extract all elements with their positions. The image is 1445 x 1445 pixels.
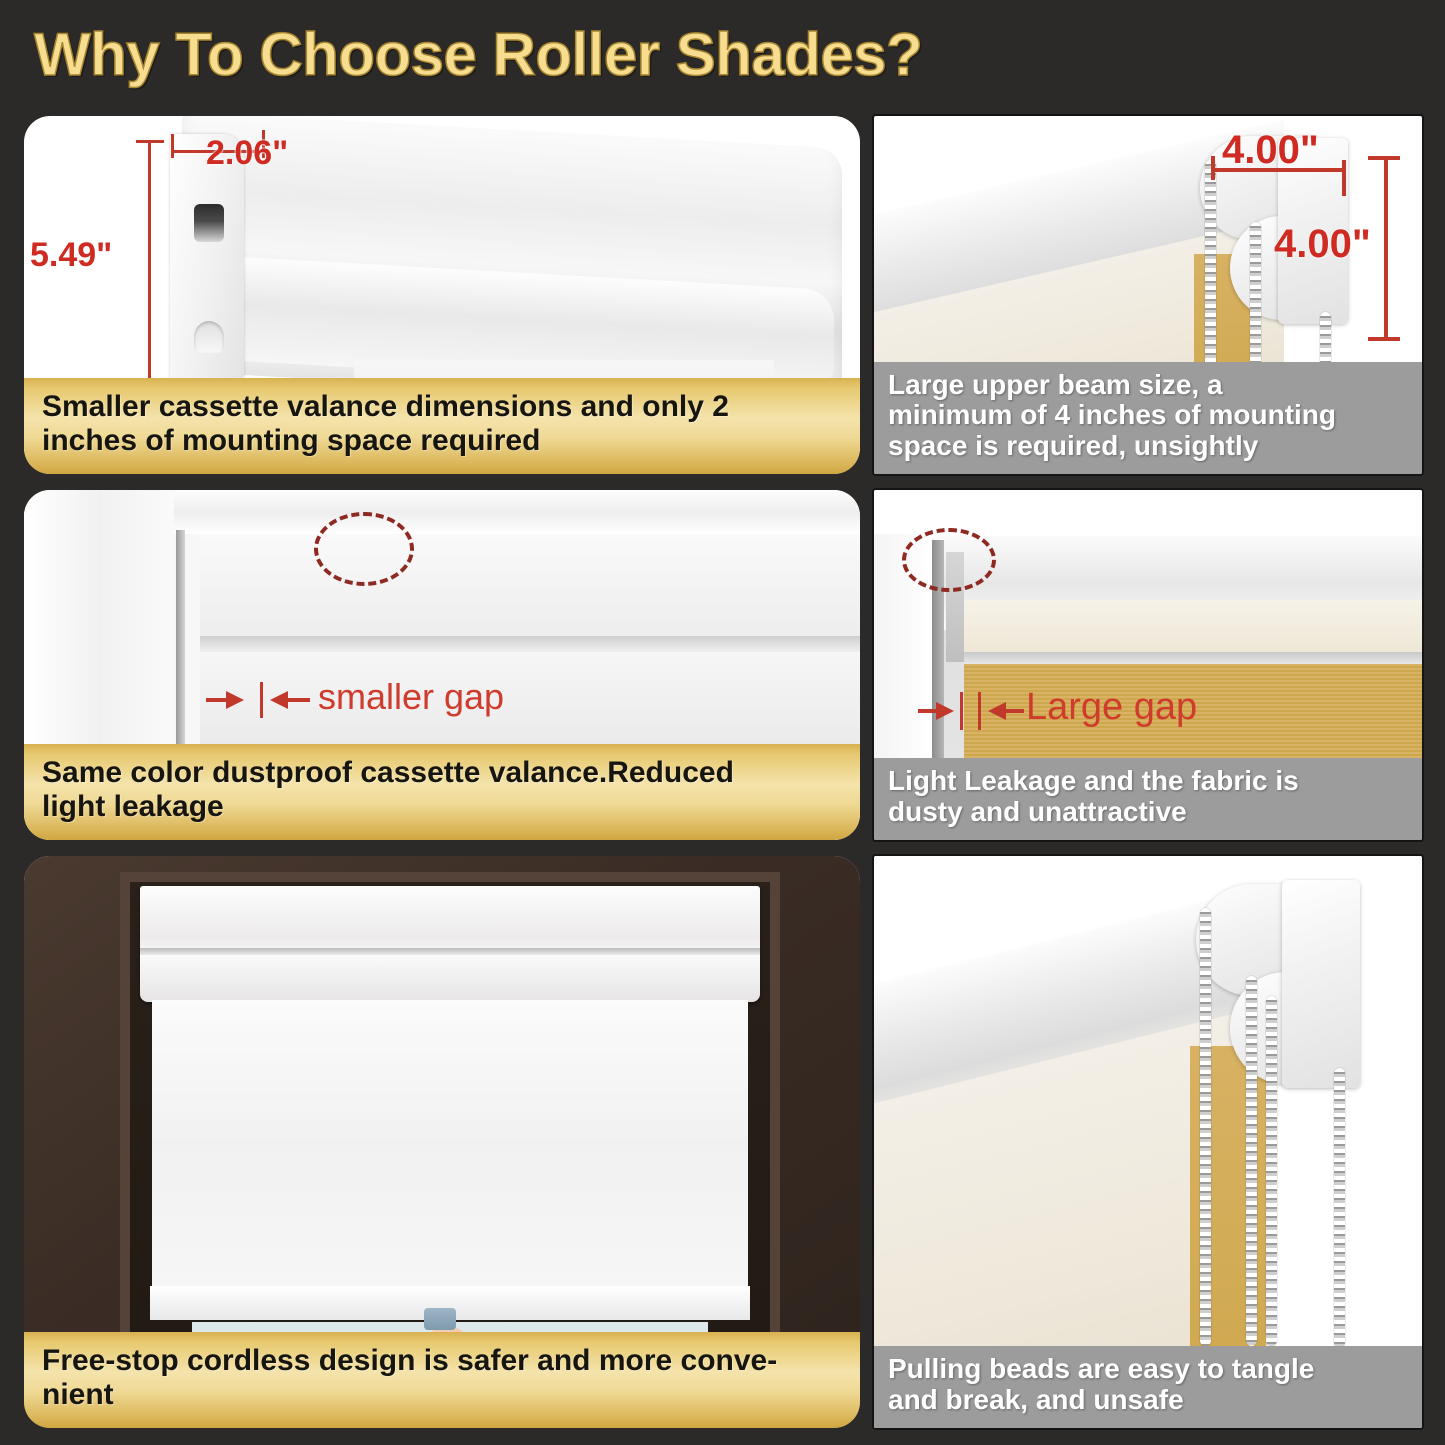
side-channel bbox=[176, 530, 185, 762]
caption-line: Same color dustproof cassette valance.Re… bbox=[42, 756, 842, 790]
bead-chain-front bbox=[1200, 908, 1211, 1346]
smaller-gap-label: smaller gap bbox=[318, 676, 504, 718]
panel-pulling-beads: Pulling beads are easy to tangle and bre… bbox=[874, 856, 1422, 1428]
height-dim-tick-bottom bbox=[1368, 337, 1400, 341]
fabric-top-edge bbox=[964, 600, 1422, 656]
bead-chain-front bbox=[1205, 160, 1216, 380]
bead-chain-roller-image bbox=[874, 856, 1422, 1428]
panel-5-caption: Free-stop cordless design is safer and m… bbox=[24, 1332, 860, 1428]
panel-dustproof-valance: smaller gap Same color dustproof cassett… bbox=[24, 490, 860, 840]
caption-line: minimum of 4 inches of mounting bbox=[888, 400, 1410, 431]
beam-height-label: 4.00" bbox=[1274, 222, 1371, 267]
mounting-plate bbox=[1282, 880, 1360, 1088]
height-dimension-label: 5.49" bbox=[30, 236, 112, 275]
caption-line: dusty and unattractive bbox=[888, 797, 1410, 828]
caption-line: Light Leakage and the fabric is bbox=[888, 766, 1410, 797]
caption-line: Large upper beam size, a bbox=[888, 370, 1410, 401]
page-title: Why To Choose Roller Shades? bbox=[34, 20, 922, 89]
gap-marker-line bbox=[260, 682, 263, 718]
shade-fabric bbox=[152, 1000, 748, 1290]
panel-2-caption: Large upper beam size, a minimum of 4 in… bbox=[874, 362, 1422, 474]
width-dimension-label: 2.06" bbox=[206, 134, 288, 173]
window-frame-top bbox=[174, 490, 860, 534]
caption-line: Free-stop cordless design is safer and m… bbox=[42, 1344, 842, 1378]
gap-marker-line-b bbox=[978, 692, 981, 730]
end-cap-slot-lower bbox=[194, 321, 224, 353]
bead-chain-inner bbox=[1266, 996, 1277, 1346]
gap-arrow-left-head bbox=[936, 702, 954, 720]
panel-1-caption: Smaller cassette valance dimensions and … bbox=[24, 378, 860, 474]
gap-arrow-right-stem bbox=[288, 698, 310, 702]
width-dim-tick-left bbox=[1211, 156, 1215, 180]
highlight-circle-icon bbox=[314, 512, 414, 586]
caption-line: light leakage bbox=[42, 790, 842, 824]
highlight-circle-icon bbox=[902, 528, 996, 592]
caption-line: and break, and unsafe bbox=[888, 1385, 1410, 1416]
caption-line: Smaller cassette valance dimensions and … bbox=[42, 390, 842, 424]
height-dim-line bbox=[148, 140, 151, 386]
panel-3-caption: Same color dustproof cassette valance.Re… bbox=[24, 744, 860, 840]
height-dim-tick-top bbox=[136, 140, 164, 143]
panel-cordless-design: Free-stop cordless design is safer and m… bbox=[24, 856, 860, 1428]
caption-line: nient bbox=[42, 1378, 842, 1412]
valance-face bbox=[200, 534, 860, 638]
valance-shadow-line bbox=[200, 636, 860, 652]
panel-large-upper-beam: 4.00" 4.00" Large upper beam size, a min… bbox=[874, 116, 1422, 474]
infographic-page: Why To Choose Roller Shades? 2.06" bbox=[0, 0, 1445, 1445]
caption-line: Pulling beads are easy to tangle bbox=[888, 1354, 1410, 1385]
bead-chain-middle bbox=[1250, 222, 1261, 382]
caption-line: space is required, unsightly bbox=[888, 431, 1410, 462]
shade-pull-handle bbox=[424, 1308, 456, 1330]
panel-light-leakage: Large gap Light Leakage and the fabric i… bbox=[874, 490, 1422, 840]
panel-cassette-dimensions: 2.06" 5.49" Smaller cassette valance dim… bbox=[24, 116, 860, 474]
gap-arrow-left-head bbox=[226, 691, 244, 709]
height-dim-tick-top bbox=[1368, 156, 1400, 160]
head-rail-groove bbox=[140, 948, 760, 955]
panel-grid: 2.06" 5.49" Smaller cassette valance dim… bbox=[0, 108, 1445, 1445]
gap-arrow-left-stem bbox=[206, 698, 228, 702]
panel-6-caption: Pulling beads are easy to tangle and bre… bbox=[874, 1346, 1422, 1428]
cassette-head-rail bbox=[140, 886, 760, 1002]
height-dim-line bbox=[1384, 156, 1388, 340]
gap-arrow-right-stem bbox=[1004, 709, 1024, 713]
end-cap-slot-upper bbox=[194, 204, 224, 242]
width-dim-tick-right bbox=[1342, 160, 1346, 196]
bead-chain-rear bbox=[1334, 1068, 1345, 1348]
header: Why To Choose Roller Shades? bbox=[0, 0, 1445, 108]
gap-marker-line-a bbox=[960, 692, 963, 730]
bead-chain-middle bbox=[1246, 976, 1257, 1346]
panel-4-caption: Light Leakage and the fabric is dusty an… bbox=[874, 758, 1422, 840]
beam-width-label: 4.00" bbox=[1222, 128, 1319, 173]
window-frame-left bbox=[24, 490, 174, 760]
caption-line: inches of mounting space required bbox=[42, 424, 842, 458]
large-gap-label: Large gap bbox=[1026, 686, 1197, 729]
gap-arrow-right-head bbox=[270, 691, 288, 709]
width-dim-tick-left bbox=[171, 134, 174, 158]
